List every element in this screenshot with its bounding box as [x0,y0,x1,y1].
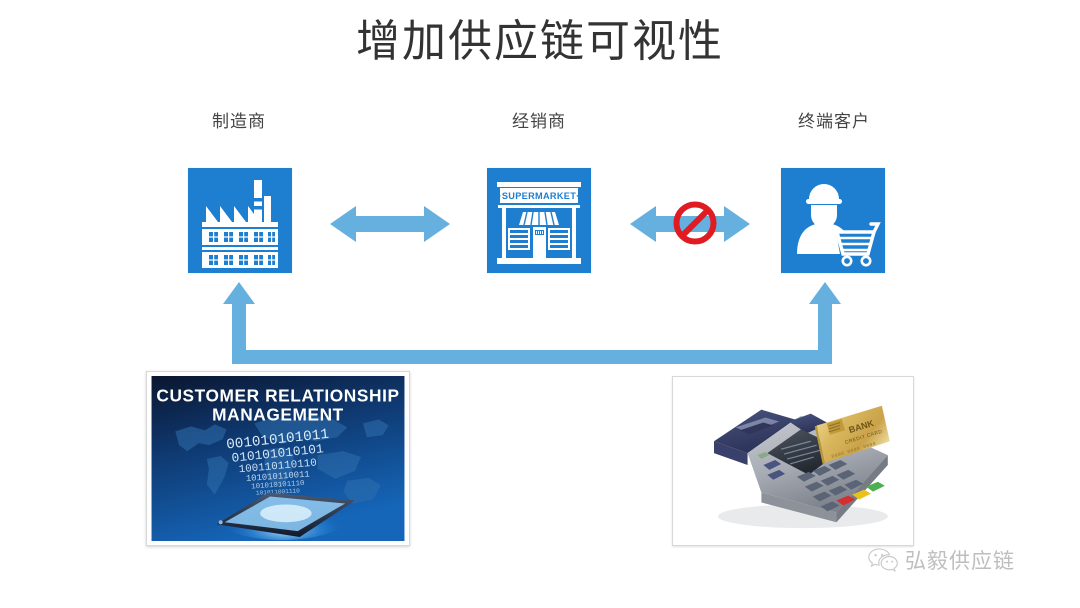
arrow-manufacturer-to-distributor [330,200,450,248]
customer-with-cart-icon [781,168,885,273]
node-tile-manufacturer[interactable] [188,168,292,273]
crm-illustration: CUSTOMER RELATIONSHIP MANAGEMENT 0010101… [146,371,410,546]
node-tile-end-customer[interactable] [781,168,885,273]
wechat-icon [868,547,898,573]
u-shaped-double-up-arrow-icon [212,282,852,364]
factory-icon [188,168,292,273]
node-label-manufacturer: 制造商 [139,107,339,132]
supermarket-icon: ·SUPERMARKET· [487,168,591,273]
double-arrow-icon [330,200,450,248]
svg-text:MANAGEMENT: MANAGEMENT [212,404,344,424]
node-label-distributor: 经销商 [439,107,639,132]
wechat-watermark: 弘毅供应链 [868,545,1015,575]
node-label-end-customer: 终端客户 [734,107,934,132]
node-tile-distributor[interactable]: ·SUPERMARKET· [487,168,591,273]
prohibition-icon [672,200,718,246]
svg-text:·SUPERMARKET·: ·SUPERMARKET· [499,191,580,201]
page-title: 增加供应链可视性 [0,14,1080,69]
pos-terminal-photo: BANK CREDIT CARD 0000 0000 0000 [672,376,914,546]
svg-text:CUSTOMER RELATIONSHIP: CUSTOMER RELATIONSHIP [156,386,399,406]
watermark-label: 弘毅供应链 [905,545,1015,575]
data-feedback-loop-arrow [212,282,852,364]
